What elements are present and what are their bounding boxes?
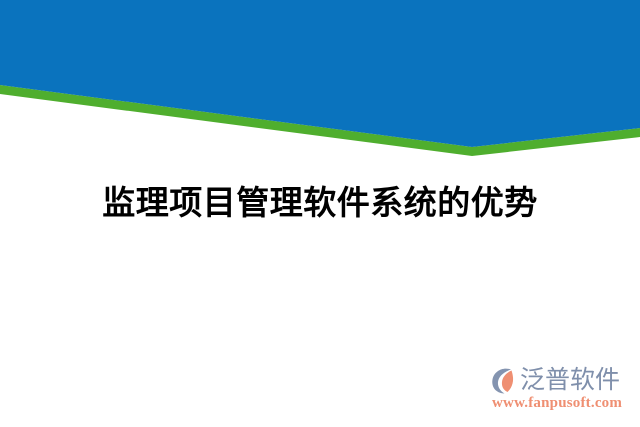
angled-banner [0,0,640,170]
logo-wordmark: 泛普软件 [520,365,620,395]
banner-blue-shape [0,0,640,147]
logo-url[interactable]: www.fanpusoft.com [492,394,622,412]
page-title: 监理项目管理软件系统的优势 [0,182,640,224]
logo-row: 泛普软件 [488,363,620,397]
fanpu-circle-leaf-icon [488,365,518,395]
brand-logo[interactable]: 泛普软件 www.fanpusoft.com [488,363,634,419]
slide-canvas: 监理项目管理软件系统的优势 泛普软件 www.fanpusoft.com [0,0,640,427]
